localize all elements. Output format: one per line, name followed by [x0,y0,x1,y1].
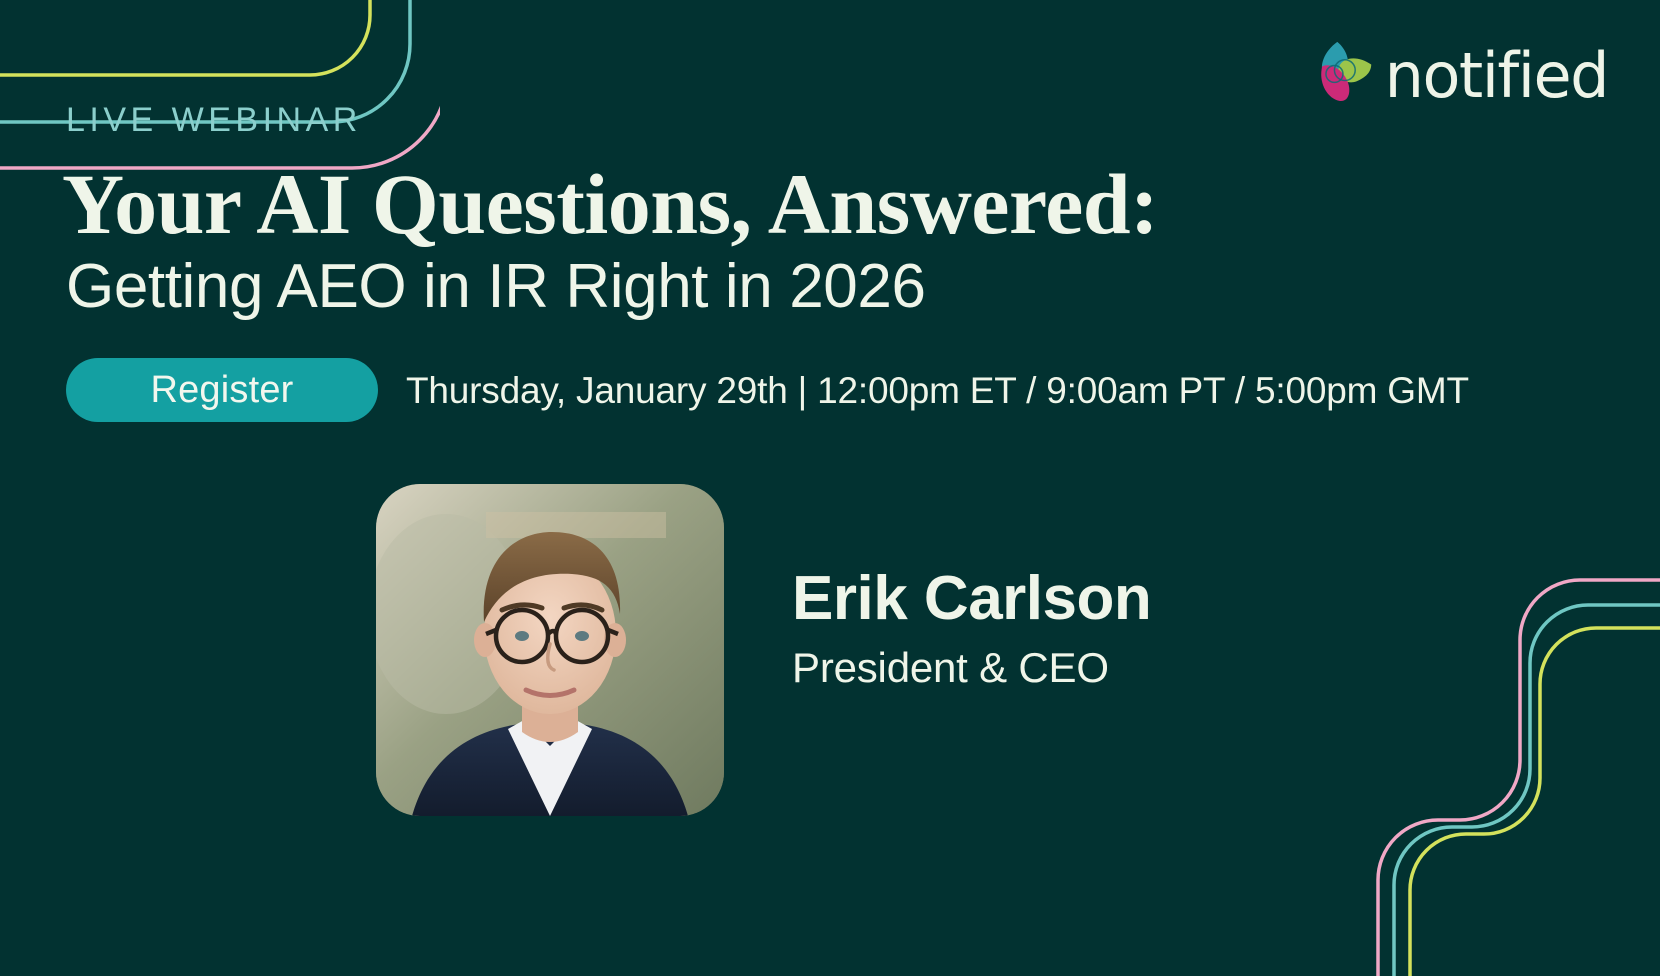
speaker-title: President & CEO [792,645,1151,691]
cta-row: Register Thursday, January 29th | 12:00p… [66,358,1469,422]
page-title: Your AI Questions, Answered: [62,160,1158,249]
eyebrow-label: LIVE WEBINAR [66,103,362,137]
brand-wordmark: notified [1385,45,1608,107]
speaker-info: Erik Carlson President & CEO [792,566,1151,691]
notified-trefoil-icon [1309,38,1375,108]
webinar-promo-banner: notified LIVE WEBINAR Your AI Questions,… [0,0,1660,976]
speaker-name: Erik Carlson [792,566,1151,631]
webinar-datetime: Thursday, January 29th | 12:00pm ET / 9:… [406,372,1469,409]
page-subtitle: Getting AEO in IR Right in 2026 [66,254,926,321]
brand-logo[interactable]: notified [1309,38,1608,108]
register-button[interactable]: Register [66,358,378,422]
decorative-lines-bottom-right [1330,524,1660,976]
speaker-headshot [376,484,724,816]
